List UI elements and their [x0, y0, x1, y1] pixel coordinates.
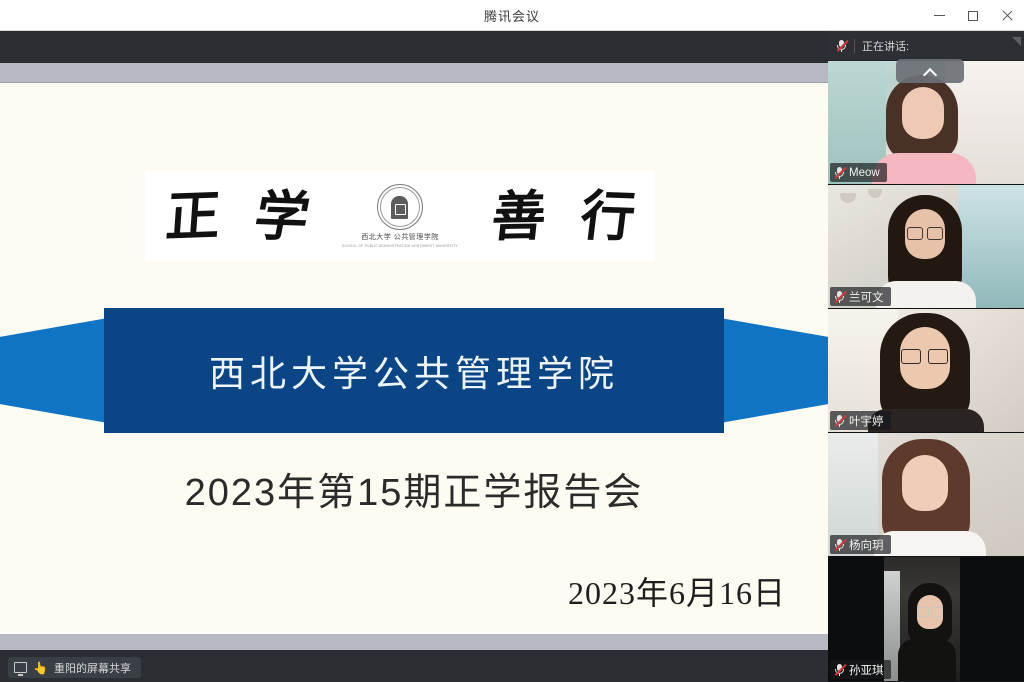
shared-screen-topbar [0, 31, 828, 63]
ribbon-main-bar: 西北大学公共管理学院 [104, 308, 724, 433]
close-icon [1001, 10, 1013, 22]
slide-date: 2023年6月16日 [568, 568, 786, 614]
seal-name-cn: 西北大学 公共管理学院 [361, 232, 438, 242]
microphone-muted-icon [834, 290, 845, 303]
title-bar: 腾讯会议 [0, 0, 1024, 31]
seal-name-en: SCHOOL OF PUBLIC ADMINISTRATION NORTHWES… [342, 244, 458, 248]
participant-tile[interactable]: 杨向玥 [828, 433, 1024, 557]
participant-name: Meow [849, 167, 880, 179]
participant-name-tag: 兰可文 [830, 287, 891, 306]
participant-name-tag: 孙亚琪 [830, 660, 891, 679]
maximize-button[interactable] [956, 0, 990, 31]
minimize-icon [934, 15, 945, 16]
slide-org-title: 西北大学公共管理学院 [209, 345, 619, 397]
calligraphy-char-xing: 行 [566, 188, 649, 245]
microphone-muted-icon [834, 538, 845, 551]
ribbon-tail-left [0, 318, 108, 423]
university-seal-block: 西北大学 公共管理学院 SCHOOL OF PUBLIC ADMINISTRAT… [332, 184, 468, 248]
slide-subtitle: 2023年第15期正学报告会 [0, 461, 828, 516]
collapse-video-panel-button[interactable] [896, 59, 964, 83]
microphone-muted-icon [834, 166, 845, 179]
shared-screen-area[interactable]: 正 学 西北大学 公共管理学院 SCHOOL OF PUBLIC ADMINIS… [0, 31, 828, 682]
participant-tile[interactable]: 兰可文 [828, 185, 1024, 309]
shared-app-chrome-top [0, 63, 828, 83]
panel-resize-handle[interactable] [1012, 37, 1021, 46]
microphone-muted-icon [836, 39, 847, 52]
share-status-bar: 👆 重阳的屏幕共享 [0, 650, 828, 682]
participant-name-tag: Meow [830, 163, 887, 182]
participant-name: 孙亚琪 [849, 662, 884, 678]
share-status-pill[interactable]: 👆 重阳的屏幕共享 [8, 657, 141, 678]
microphone-muted-icon [834, 663, 845, 676]
title-ribbon: 西北大学公共管理学院 [0, 308, 828, 433]
tencent-meeting-window: 腾讯会议 正 学 西 [0, 0, 1024, 682]
window-controls [922, 0, 1024, 31]
calligraphy-char-xue: 学 [238, 188, 325, 245]
participant-name-tag: 叶宇婷 [830, 411, 891, 430]
participant-tile[interactable]: 叶宇婷 [828, 309, 1024, 433]
close-button[interactable] [990, 0, 1024, 31]
presentation-slide: 正 学 西北大学 公共管理学院 SCHOOL OF PUBLIC ADMINIS… [0, 83, 828, 634]
participant-name: 杨向玥 [849, 537, 884, 553]
divider [854, 39, 855, 53]
share-status-label: 重阳的屏幕共享 [54, 660, 131, 676]
microphone-muted-icon [834, 414, 845, 427]
calligraphy-banner: 正 学 西北大学 公共管理学院 SCHOOL OF PUBLIC ADMINIS… [145, 171, 655, 261]
screen-share-icon [14, 662, 27, 673]
active-speaker-bar: 正在讲话: [828, 31, 1024, 61]
shared-app-chrome-bottom [0, 634, 828, 650]
university-seal-icon [377, 184, 423, 230]
minimize-button[interactable] [922, 0, 956, 31]
ribbon-tail-right [720, 318, 828, 423]
maximize-icon [968, 11, 978, 21]
calligraphy-char-zheng: 正 [152, 188, 233, 245]
chevron-up-icon [924, 65, 937, 78]
app-title: 腾讯会议 [484, 6, 540, 25]
active-speaker-label: 正在讲话: [862, 38, 909, 54]
participant-video-panel: 正在讲话: Meow [828, 31, 1024, 682]
calligraphy-char-shan: 善 [477, 188, 560, 243]
participant-tile[interactable]: 孙亚琪 [828, 557, 1024, 681]
raised-hand-icon: 👆 [33, 662, 48, 674]
seal-pagoda-icon [391, 196, 408, 219]
participant-name: 兰可文 [849, 289, 884, 305]
participant-name: 叶宇婷 [849, 413, 884, 429]
participant-name-tag: 杨向玥 [830, 535, 891, 554]
